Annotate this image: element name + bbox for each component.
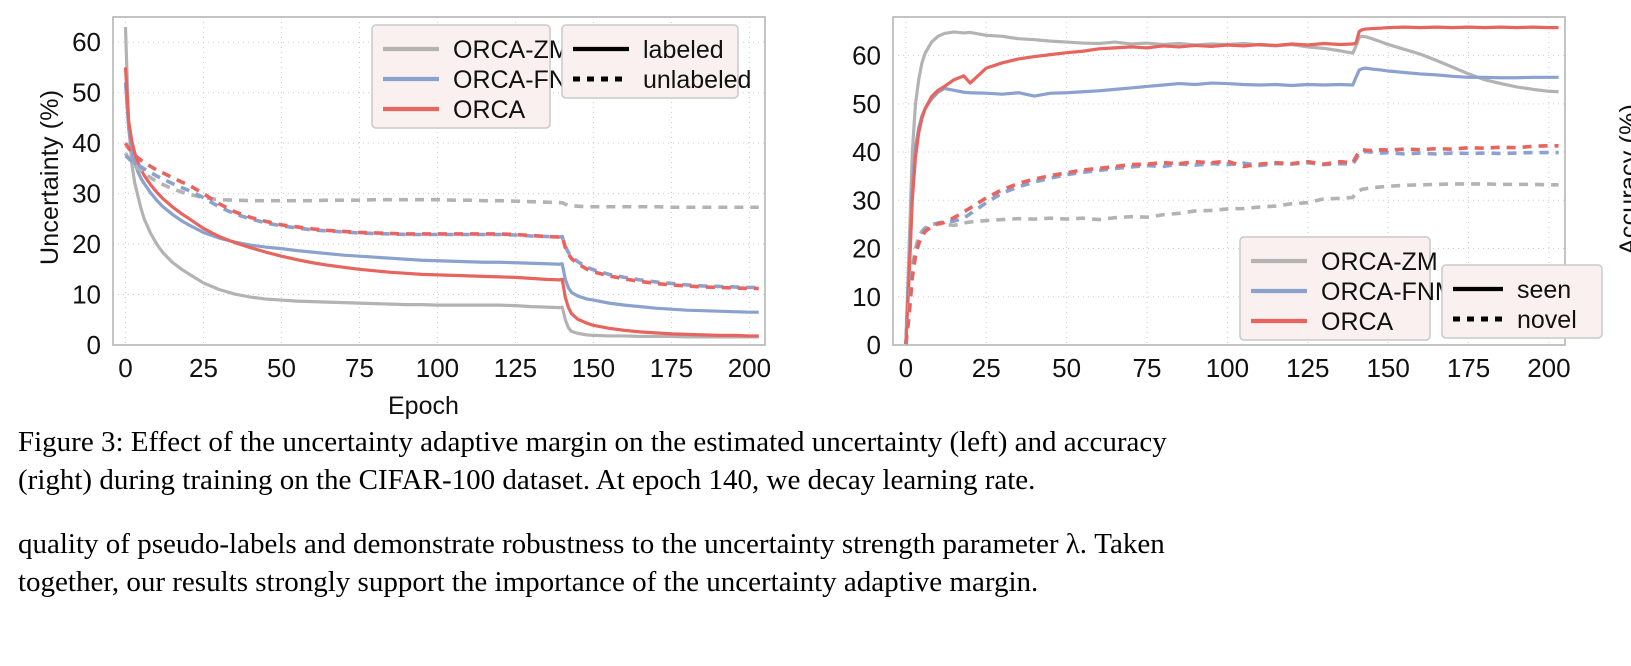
figure-caption: Figure 3: Effect of the uncertainty adap…: [18, 424, 1618, 499]
svg-text:labeled: labeled: [643, 36, 724, 64]
svg-text:novel: novel: [1517, 306, 1577, 334]
svg-text:unlabeled: unlabeled: [643, 66, 751, 94]
accuracy-chart-panel: Accuracy (%) Epoch 010203040506002550751…: [815, 0, 1631, 420]
svg-text:150: 150: [572, 353, 615, 383]
svg-text:200: 200: [728, 353, 771, 383]
body-line-1: quality of pseudo-labels and demonstrate…: [18, 526, 1618, 564]
svg-text:175: 175: [1447, 353, 1490, 383]
svg-text:150: 150: [1366, 353, 1409, 383]
svg-text:50: 50: [72, 78, 101, 108]
svg-text:40: 40: [72, 128, 101, 158]
caption-line-1: Figure 3: Effect of the uncertainty adap…: [18, 424, 1618, 462]
svg-text:10: 10: [72, 280, 101, 310]
svg-text:125: 125: [494, 353, 537, 383]
uncertainty-chart-panel: Uncertainty (%) Epoch 010203040506002550…: [0, 0, 815, 420]
svg-text:200: 200: [1527, 353, 1570, 383]
body-line-2: together, our results strongly support t…: [18, 564, 1618, 602]
svg-text:0: 0: [867, 330, 881, 360]
svg-text:0: 0: [87, 330, 101, 360]
svg-text:ORCA-FNM: ORCA-FNM: [1321, 278, 1456, 306]
caption-line-2: (right) during training on the CIFAR-100…: [18, 462, 1618, 500]
svg-text:50: 50: [852, 89, 881, 119]
svg-text:60: 60: [72, 27, 101, 57]
svg-text:100: 100: [1206, 353, 1249, 383]
figure-page: Uncertainty (%) Epoch 010203040506002550…: [0, 0, 1631, 666]
accuracy-plot: 01020304050600255075100125150175200ORCA-…: [815, 0, 1631, 420]
svg-text:seen: seen: [1517, 276, 1571, 304]
svg-text:125: 125: [1286, 353, 1329, 383]
svg-text:20: 20: [72, 229, 101, 259]
svg-text:ORCA-ZM: ORCA-ZM: [1321, 248, 1438, 276]
svg-text:60: 60: [852, 41, 881, 71]
svg-text:20: 20: [852, 234, 881, 264]
svg-text:0: 0: [899, 353, 913, 383]
svg-text:10: 10: [852, 282, 881, 312]
svg-text:100: 100: [416, 353, 459, 383]
svg-text:30: 30: [72, 179, 101, 209]
svg-text:ORCA-ZM: ORCA-ZM: [453, 36, 570, 64]
svg-text:175: 175: [650, 353, 693, 383]
svg-text:0: 0: [118, 353, 132, 383]
svg-text:40: 40: [852, 137, 881, 167]
svg-text:75: 75: [345, 353, 374, 383]
svg-text:25: 25: [972, 353, 1001, 383]
uncertainty-plot: 01020304050600255075100125150175200ORCA-…: [0, 0, 815, 420]
figure-row: Uncertainty (%) Epoch 010203040506002550…: [0, 0, 1631, 420]
svg-text:25: 25: [189, 353, 218, 383]
svg-text:ORCA: ORCA: [453, 96, 526, 124]
svg-text:ORCA: ORCA: [1321, 308, 1394, 336]
body-paragraph: quality of pseudo-labels and demonstrate…: [18, 526, 1618, 601]
svg-text:75: 75: [1133, 353, 1162, 383]
svg-text:50: 50: [267, 353, 296, 383]
svg-text:50: 50: [1052, 353, 1081, 383]
svg-text:30: 30: [852, 185, 881, 215]
